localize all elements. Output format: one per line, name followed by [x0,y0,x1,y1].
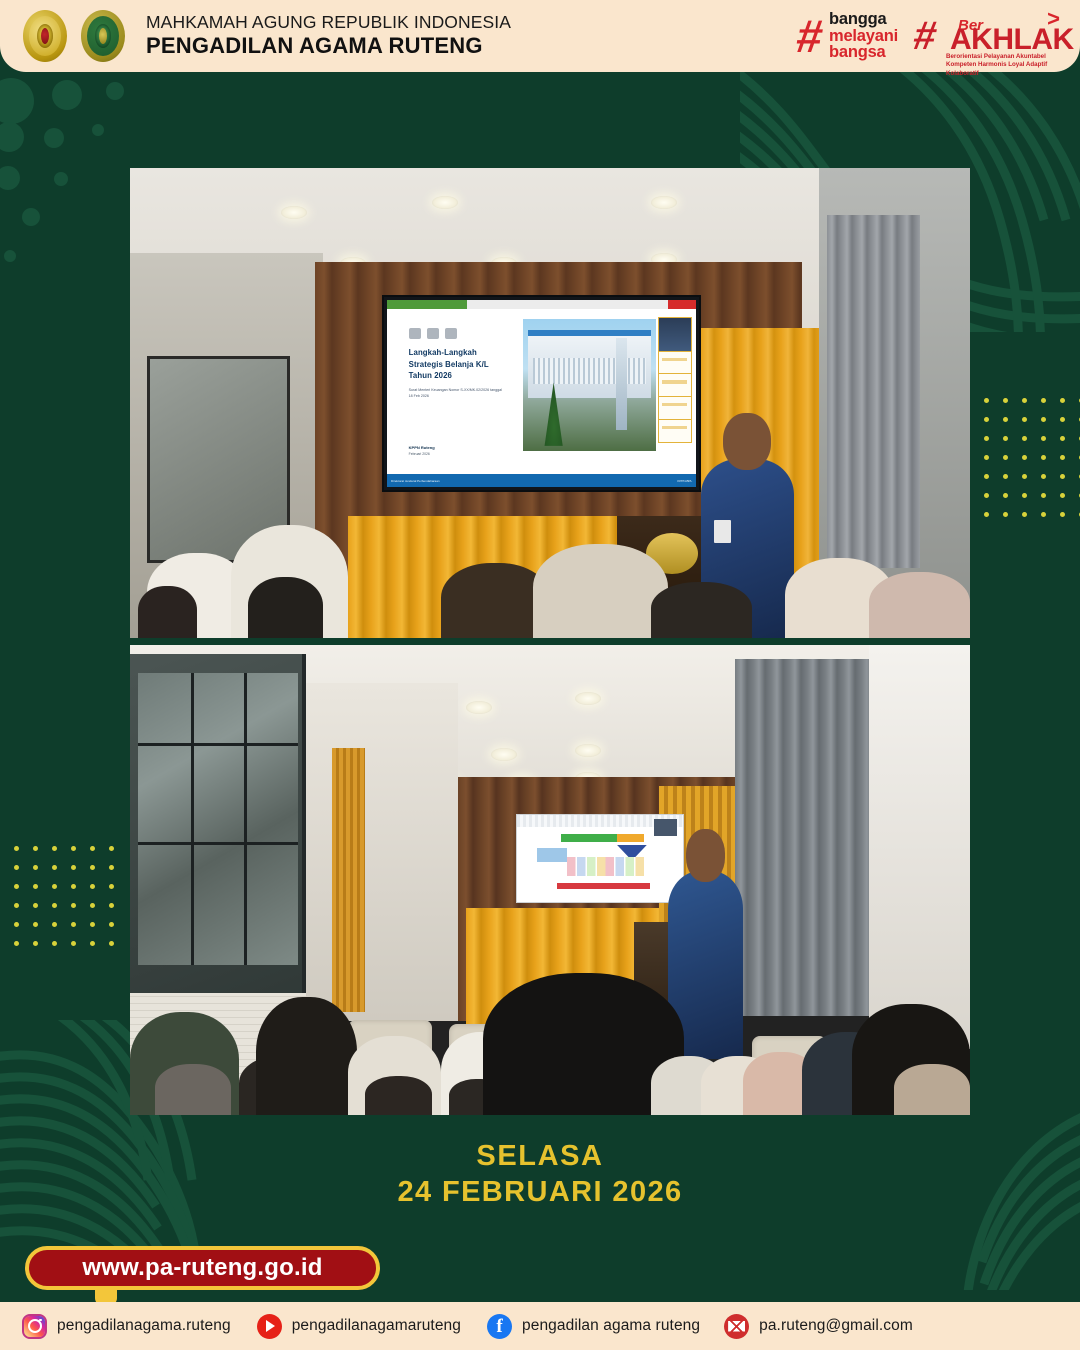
curtain [827,215,919,568]
slide-date: Februari 2026 [409,452,435,456]
decorative-circle [22,208,40,226]
social-instagram[interactable]: pengadilanagama.ruteng [22,1314,231,1339]
hash-icon: # [910,16,939,56]
bangga-line3: bangsa [829,44,898,61]
facebook-icon: f [487,1314,512,1339]
social-footer: pengadilanagama.ruteng pengadilanagamaru… [0,1302,1080,1350]
instagram-handle: pengadilanagama.ruteng [57,1317,231,1335]
audience-person [533,544,667,638]
decorative-dot-grid-left [14,846,114,946]
slide-footer-bar: Direktorat Jenderal Perbendaharaan KPPN-… [387,474,696,487]
court-name: PENGADILAN AGAMA RUTENG [146,33,511,59]
slide-footer-left: Direktorat Jenderal Perbendaharaan [391,479,440,483]
ceiling-light [575,744,601,757]
berakhlak-logo: > # Ber AKHLAK Berorientasi Pelayanan Ak… [914,8,1064,64]
photo-presentation-speaker: Langkah-Langkah Strategis Belanja K/L Ta… [130,168,970,638]
decorative-circle [52,80,82,110]
slide-title: Langkah-Langkah Strategis Belanja K/L Ta… [409,347,505,381]
youtube-icon [257,1314,282,1339]
bangga-melayani-bangsa-logo: # bangga melayani bangsa [797,11,898,61]
slide-text-column: Langkah-Langkah Strategis Belanja K/L Ta… [387,309,517,474]
ceiling-light [575,692,601,705]
event-date: SELASA 24 FEBRUARI 2026 [0,1138,1080,1211]
slide-topbar [387,300,696,309]
audience-person [155,1064,231,1115]
ceiling-light [651,196,677,209]
slide-building-photo [523,319,656,451]
projection-screen [516,814,684,903]
audience-person [651,582,752,638]
slide-subtitle: Surat Menteri Keuangan Nomor S-XX/MK.02/… [409,388,505,399]
page-header: MAHKAMAH AGUNG REPUBLIK INDONESIA PENGAD… [0,0,1080,72]
youtube-handle: pengadilanagamaruteng [292,1317,461,1335]
social-facebook[interactable]: f pengadilan agama ruteng [487,1314,700,1339]
slide-body: Langkah-Langkah Strategis Belanja K/L Ta… [387,309,696,474]
slide-footer-right: KPPN-BPL [677,479,692,483]
akhlak-subtitle: Berorientasi Pelayanan Akuntabel Kompete… [946,53,1064,78]
bangga-line1: bangga [829,11,898,28]
header-titles: MAHKAMAH AGUNG REPUBLIK INDONESIA PENGAD… [146,12,511,59]
decorative-circle [54,172,68,186]
hash-icon: # [794,13,826,59]
pengadilan-agama-emblem-icon [78,7,128,65]
slide-office: KPPN Ruteng [409,445,435,450]
bangga-wordmark: bangga melayani bangsa [829,11,898,61]
social-youtube[interactable]: pengadilanagamaruteng [257,1314,461,1339]
audience-person [248,577,324,638]
mail-icon [724,1314,749,1339]
ceiling-light [281,206,307,219]
slide-side-strip [658,317,692,442]
audience-person [138,586,197,638]
decorative-circle [106,82,124,100]
email-address: pa.ruteng@gmail.com [759,1317,913,1335]
slide-logos [409,328,505,339]
date-full-label: 24 FEBRUARI 2026 [0,1174,1080,1210]
akhlak-wordmark: AKHLAK [950,25,1074,55]
instagram-icon [22,1314,47,1339]
photo-audience-room [130,645,970,1115]
audience-person [365,1076,432,1115]
organization-name: MAHKAMAH AGUNG REPUBLIK INDONESIA [146,12,511,33]
bangga-line2: melayani [829,28,898,45]
audience-person [869,572,970,638]
decorative-dot-grid-right [984,398,1080,517]
decorative-circle [92,124,104,136]
audience-seating [130,918,970,1115]
presentation-slide: Langkah-Langkah Strategis Belanja K/L Ta… [387,300,696,487]
mahkamah-agung-emblem-icon [20,7,70,65]
facebook-handle: pengadilan agama ruteng [522,1317,700,1335]
audience-person [894,1064,970,1115]
slide-footer-block: KPPN Ruteng Februari 2026 [409,445,435,456]
decorative-circle [44,128,64,148]
decorative-circle [4,250,16,262]
social-email[interactable]: pa.ruteng@gmail.com [724,1314,913,1339]
website-button[interactable]: www.pa-ruteng.go.id [25,1246,380,1290]
projection-screen: Langkah-Langkah Strategis Belanja K/L Ta… [382,295,701,492]
date-day-label: SELASA [0,1138,1080,1174]
audience-person [256,997,357,1115]
website-url: www.pa-ruteng.go.id [82,1254,322,1282]
